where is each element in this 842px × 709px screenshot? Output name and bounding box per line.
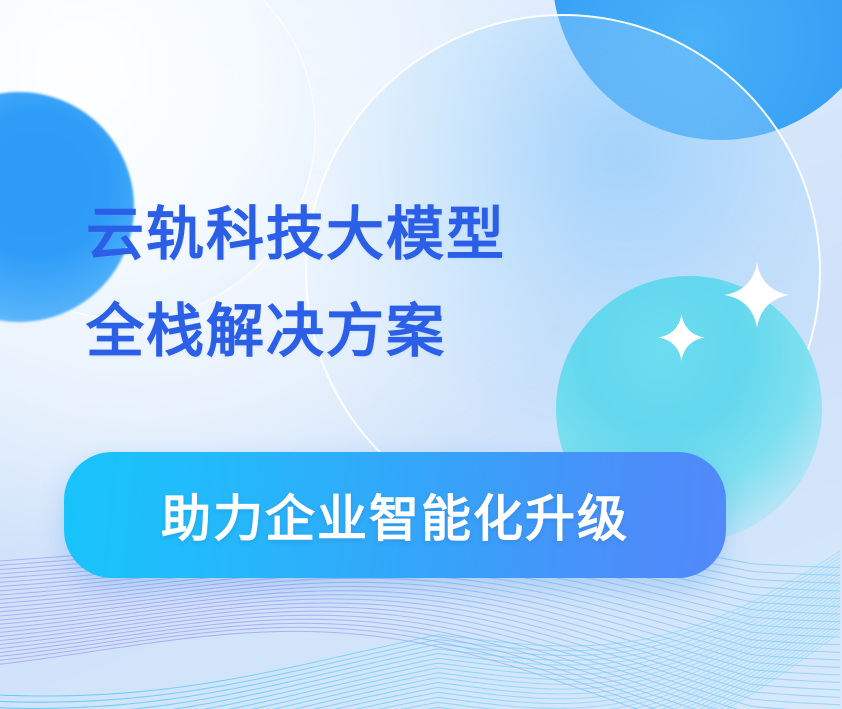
poster-canvas: 云轨科技大模型 全栈解决方案 助力企业智能化升级	[0, 0, 842, 709]
headline-line-1: 云轨科技大模型	[86, 186, 706, 283]
tagline-banner: 助力企业智能化升级	[64, 452, 726, 578]
tagline-banner-text: 助力企业智能化升级	[161, 479, 629, 551]
blue-circle-top-right	[552, 0, 842, 140]
headline-line-2: 全栈解决方案	[86, 283, 706, 380]
sparkle-icon	[724, 262, 790, 328]
headline: 云轨科技大模型 全栈解决方案	[86, 186, 706, 380]
